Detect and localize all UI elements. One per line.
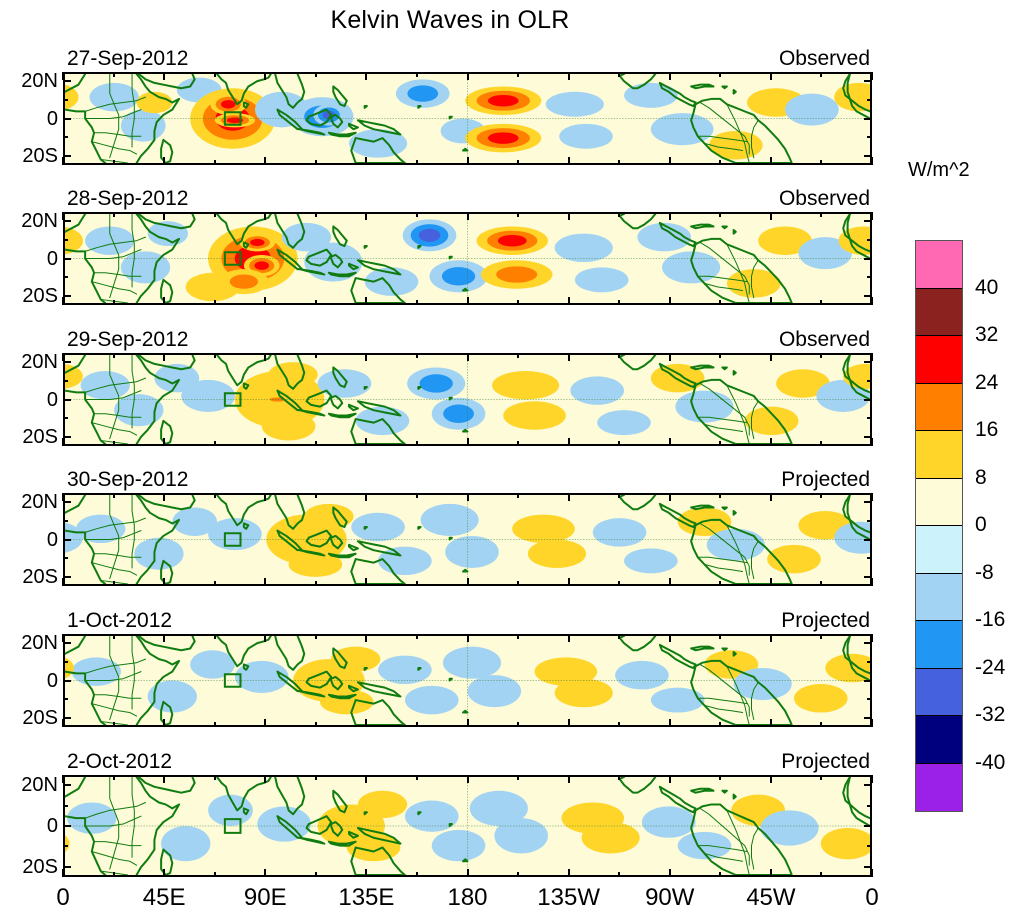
y-tick-label: 0 (47, 671, 58, 691)
y-tick-label: 20N (21, 352, 58, 372)
y-axis-labels: 20N020S (0, 72, 58, 165)
coastline-path (418, 106, 420, 108)
colorbar-tick-label: 32 (975, 324, 998, 345)
coastline-path (463, 430, 468, 432)
anomaly-contour (90, 83, 139, 111)
map-plot-area[interactable] (63, 72, 872, 165)
map-plot-area[interactable] (63, 634, 872, 727)
coastline-path (365, 387, 367, 389)
panel-status-label: Observed (779, 329, 870, 350)
y-axis-labels: 20N020S (0, 353, 58, 446)
anomaly-contour (651, 688, 705, 713)
y-tick-label: 20S (22, 427, 58, 447)
anomaly-contour (378, 656, 432, 684)
coastline-path (734, 371, 736, 375)
colorbar-segment[interactable] (916, 621, 962, 669)
anomaly-contour (445, 536, 499, 568)
anomaly-contour (230, 274, 258, 288)
anomaly-contour (794, 684, 848, 712)
colorbar-segment[interactable] (916, 431, 962, 479)
map-panel: 28-Sep-2012Observed20N020S (63, 212, 872, 305)
anomaly-contour (405, 686, 459, 714)
x-tick-label: 45E (143, 886, 186, 910)
coastline-path (418, 246, 420, 248)
coastline-path (734, 230, 736, 234)
coastline-path (450, 398, 452, 400)
coastline-path (734, 795, 736, 799)
coastline-path (450, 117, 452, 119)
coastline-path (365, 527, 367, 529)
anomaly-contour (407, 85, 438, 101)
panel-date-label: 1-Oct-2012 (67, 610, 172, 631)
colorbar-tick-label: -40 (975, 752, 1005, 773)
colorbar-segment[interactable] (916, 289, 962, 337)
anomaly-contour (615, 661, 669, 689)
y-tick-label: 0 (47, 816, 58, 836)
y-axis-labels: 20N020S (0, 493, 58, 586)
anomaly-contour (257, 806, 311, 841)
anomaly-contour (262, 412, 316, 440)
y-tick-label: 20S (22, 857, 58, 877)
panel-status-label: Projected (781, 751, 870, 772)
panel-status-label: Observed (779, 48, 870, 69)
x-tick-label: 45W (746, 886, 795, 910)
map-panel: 30-Sep-2012Projected20N020S (63, 493, 872, 586)
x-tick-label: 180 (447, 886, 487, 910)
colorbar-tick-label: 0 (975, 514, 987, 535)
colorbar-segment[interactable] (916, 526, 962, 574)
coastline-path (722, 791, 726, 793)
anomaly-contour (331, 647, 380, 672)
y-tick-label: 0 (47, 249, 58, 269)
panel-status-label: Projected (781, 610, 870, 631)
colorbar-segment[interactable] (916, 716, 962, 764)
colorbar-unit-label: W/m^2 (908, 160, 970, 180)
map-panel: 2-Oct-2012Projected20N020S (63, 775, 872, 877)
x-tick-label: 90W (645, 886, 694, 910)
anomaly-contour (134, 538, 183, 570)
anomaly-contour (662, 251, 720, 283)
y-tick-label: 20N (21, 211, 58, 231)
coastline-path (365, 668, 367, 670)
colorbar-segment[interactable] (916, 384, 962, 432)
panel-status-label: Projected (781, 469, 870, 490)
coastline-path (463, 711, 468, 713)
y-tick-label: 20N (21, 71, 58, 91)
anomaly-contour (72, 657, 121, 685)
colorbar-segment[interactable] (916, 764, 962, 812)
anomaly-contour (81, 371, 130, 399)
y-tick-label: 20N (21, 775, 58, 795)
x-tick-label: 135W (537, 886, 600, 910)
anomaly-contour (528, 540, 586, 568)
y-axis-labels: 20N020S (0, 212, 58, 305)
anomaly-contour (498, 235, 527, 246)
y-tick-label: 20N (21, 492, 58, 512)
panel-date-label: 27-Sep-2012 (67, 48, 188, 69)
coastline-path (734, 652, 736, 656)
colorbar-tick-label: -32 (975, 704, 1005, 725)
coastline-path (450, 679, 452, 681)
coastline-path (463, 859, 468, 861)
anomaly-contour (378, 547, 432, 575)
anomaly-contour (468, 675, 522, 707)
anomaly-contour (597, 410, 651, 435)
anomaly-contour (254, 261, 268, 270)
colorbar-tick-label: 24 (975, 372, 998, 393)
colorbar-tick-label: -24 (975, 657, 1005, 678)
anomaly-contour (405, 801, 459, 832)
colorbar-segment[interactable] (916, 241, 962, 289)
y-tick-label: 0 (47, 530, 58, 550)
coastline-path (463, 570, 468, 572)
colorbar-tick-label: -8 (975, 562, 994, 583)
coastline-path (418, 387, 420, 389)
anomaly-contour (546, 92, 604, 117)
map-plot-area[interactable] (63, 493, 872, 586)
anomaly-contour (496, 266, 537, 282)
x-axis-labels: 045E90E135E180135W90W45W0 (0, 886, 1021, 920)
x-tick-label: 90E (244, 886, 287, 910)
colorbar[interactable] (915, 240, 963, 812)
coastline-path (722, 507, 726, 509)
anomaly-contour (488, 95, 519, 106)
page-title: Kelvin Waves in OLR (0, 6, 900, 35)
anomaly-contour (512, 515, 575, 543)
anomaly-contour (351, 513, 405, 541)
x-tick-label: 135E (338, 886, 394, 910)
coastline-path (450, 257, 452, 259)
y-tick-label: 0 (47, 109, 58, 129)
anomaly-contour (555, 679, 613, 707)
anomaly-contour (421, 504, 479, 536)
anomaly-contour (494, 818, 548, 853)
map-plot-area[interactable] (63, 775, 872, 877)
y-tick-label: 20S (22, 708, 58, 728)
coastline-path (418, 527, 420, 529)
anomaly-contour (503, 401, 566, 429)
anomaly-contour (575, 267, 629, 292)
anomaly-contour (593, 518, 647, 546)
anomaly-contour (221, 100, 235, 109)
colorbar-segment[interactable] (916, 574, 962, 622)
map-panel: 29-Sep-2012Observed20N020S (63, 353, 872, 446)
y-tick-label: 20S (22, 286, 58, 306)
anomaly-contour (443, 647, 501, 679)
anomaly-contour (570, 376, 624, 404)
anomaly-contour (318, 369, 372, 397)
coastline-path (418, 668, 420, 670)
anomaly-contour (624, 548, 678, 573)
coastline-path (365, 246, 367, 248)
coastline-path (463, 289, 468, 291)
colorbar-segment[interactable] (916, 479, 962, 527)
anomaly-contour (492, 371, 559, 399)
anomaly-contour (642, 806, 696, 837)
anomaly-contour (442, 267, 475, 285)
y-tick-label: 20S (22, 146, 58, 166)
anomaly-contour (181, 380, 235, 412)
coastline-path (365, 106, 367, 108)
panel-date-label: 29-Sep-2012 (67, 329, 188, 350)
colorbar-segment[interactable] (916, 336, 962, 384)
colorbar-tick-label: 16 (975, 419, 998, 440)
anomaly-contour (114, 394, 163, 426)
coastline-path (734, 511, 736, 515)
coastline-path (463, 149, 468, 151)
colorbar-tick-label: 8 (975, 467, 987, 488)
colorbar-tick-label: 40 (975, 277, 998, 298)
anomaly-contour (420, 374, 453, 392)
y-tick-label: 0 (47, 390, 58, 410)
anomaly-contour (582, 822, 640, 853)
anomaly-contour (432, 830, 486, 861)
anomaly-contour (419, 229, 441, 242)
anomaly-contour (443, 405, 474, 423)
anomaly-contour (268, 362, 317, 387)
coastline-path (734, 90, 736, 94)
anomaly-contour (651, 113, 714, 145)
panel-status-label: Observed (779, 188, 870, 209)
panel-date-label: 2-Oct-2012 (67, 751, 172, 772)
panel-date-label: 30-Sep-2012 (67, 469, 188, 490)
anomaly-contour (555, 234, 613, 262)
anomaly-contour (559, 124, 613, 149)
anomaly-contour (161, 826, 210, 861)
x-tick-label: 0 (865, 886, 878, 910)
y-tick-label: 20N (21, 633, 58, 653)
anomaly-contour (675, 391, 733, 423)
coastline-path (722, 648, 726, 650)
anomaly-contour (785, 94, 839, 126)
map-panel: 1-Oct-2012Projected20N020S (63, 634, 872, 727)
x-tick-label: 0 (56, 886, 69, 910)
map-plot-area[interactable] (63, 212, 872, 305)
anomaly-contour (488, 132, 519, 143)
panel-date-label: 28-Sep-2012 (67, 188, 188, 209)
map-plot-area[interactable] (63, 353, 872, 446)
colorbar-tick-label: -16 (975, 609, 1005, 630)
y-tick-label: 20S (22, 567, 58, 587)
map-panel: 27-Sep-2012Observed20N020S (63, 72, 872, 165)
coastline-path (722, 86, 726, 88)
anomaly-contour (250, 239, 264, 246)
anomaly-contour (767, 545, 821, 573)
y-axis-labels: 20N020S (0, 634, 58, 727)
coastline-path (722, 226, 726, 228)
y-axis-labels: 20N020S (0, 775, 58, 877)
colorbar-segment[interactable] (916, 669, 962, 717)
coastline-path (450, 538, 452, 540)
coastline-path (722, 367, 726, 369)
